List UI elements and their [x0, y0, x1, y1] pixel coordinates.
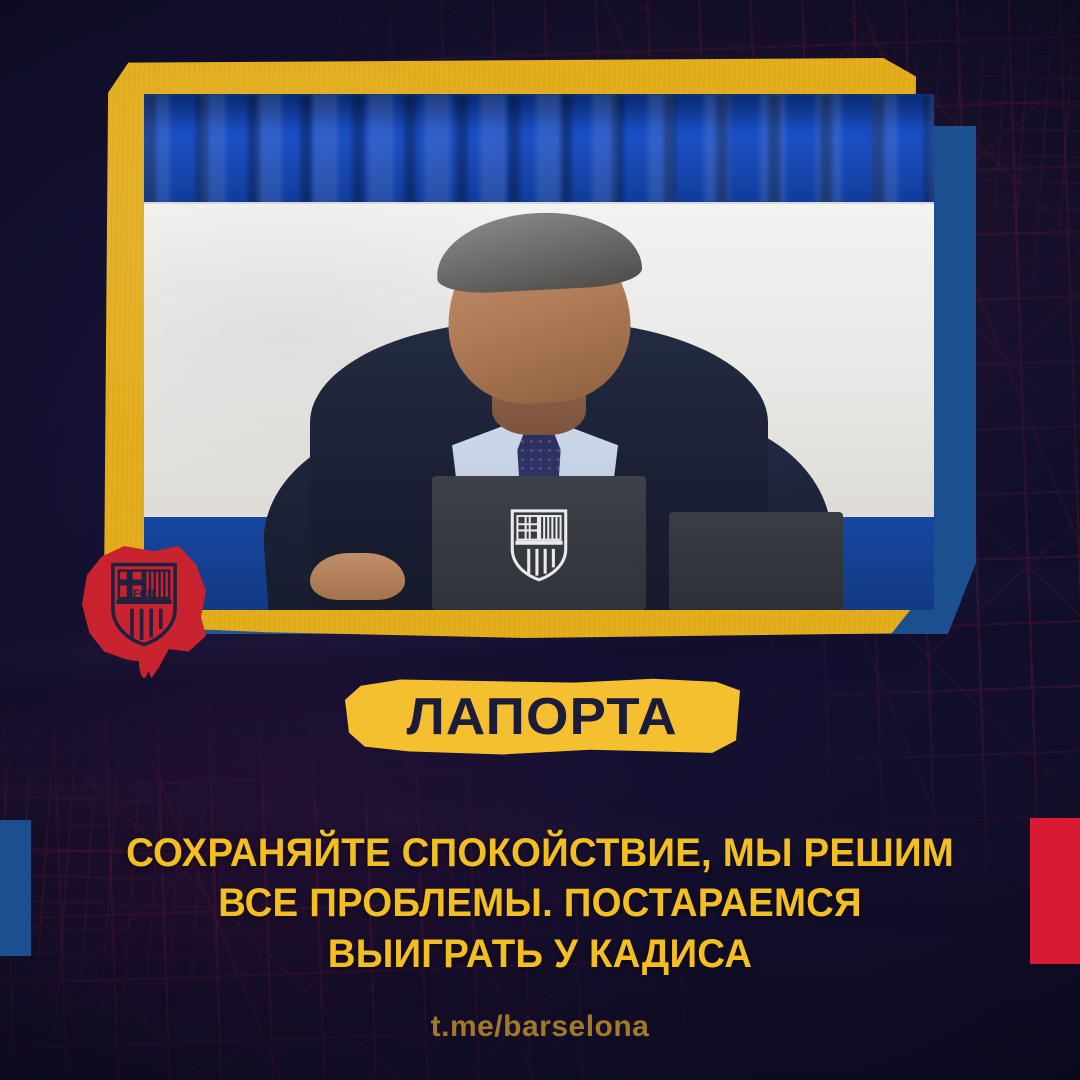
- photo-seat-back-right: [669, 512, 843, 610]
- subject-name-text: ЛАПОРТА: [407, 691, 678, 743]
- photo-composition: FCB: [0, 0, 1080, 680]
- figure-hand-left: [310, 553, 405, 599]
- quote-line-3: ВЫИГРАТЬ У КАДИСА: [114, 929, 966, 979]
- quote-line-1: СОХРАНЯЙТЕ СПОКОЙСТВИЕ, МЫ РЕШИМ: [114, 828, 966, 878]
- photo-seat-back-center: [432, 476, 645, 610]
- subject-photo: [144, 94, 934, 610]
- subject-name-banner: ЛАПОРТА: [345, 678, 740, 756]
- poster-canvas: FCB ЛАПОРТА СОХРАНЯЙТЕ СПОКОЙСТВИЕ, МЫ Р…: [0, 0, 1080, 1080]
- quote-line-2: ВСЕ ПРОБЛЕМЫ. ПОСТАРАЕМСЯ: [114, 878, 966, 928]
- svg-text:FCB: FCB: [133, 588, 155, 600]
- fcb-crest-icon: FCB: [107, 561, 181, 647]
- figure-hair: [434, 207, 643, 295]
- paint-drip: [139, 644, 149, 678]
- fcb-crest-icon: [508, 507, 570, 581]
- crest-splatter-badge: FCB: [82, 546, 206, 678]
- footer-handle: t.me/barselona: [0, 1010, 1080, 1044]
- quote-text: СОХРАНЯЙТЕ СПОКОЙСТВИЕ, МЫ РЕШИМ ВСЕ ПРО…: [0, 828, 1080, 979]
